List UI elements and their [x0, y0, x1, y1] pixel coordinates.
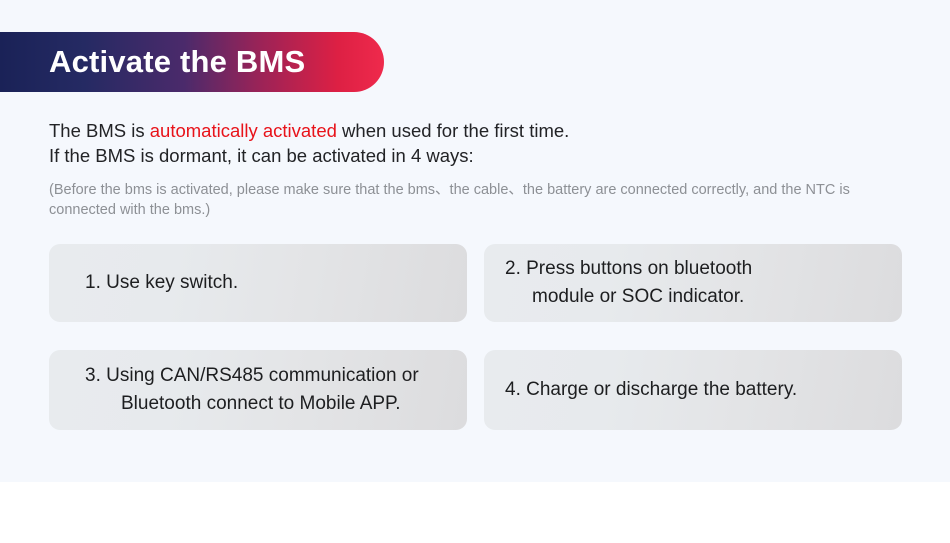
lead-paragraph: The BMS is automatically activated when … [49, 118, 909, 168]
slide-canvas: Activate the BMS The BMS is automaticall… [0, 0, 950, 482]
card-press-buttons[interactable]: 2. Press buttons on bluetoothmodule or S… [484, 244, 902, 322]
lead-line-1-before: The BMS is [49, 120, 150, 141]
card-3-text: 3. Using CAN/RS485 communication or Blue… [85, 362, 467, 418]
card-can-rs485-bluetooth[interactable]: 3. Using CAN/RS485 communication or Blue… [49, 350, 467, 430]
note-text: (Before the bms is activated, please mak… [49, 181, 894, 220]
method-cards: 1. Use key switch. 2. Press buttons on b… [49, 244, 902, 430]
card-1-text: 1. Use key switch. [49, 269, 238, 297]
card-row-one: 1. Use key switch. 2. Press buttons on b… [49, 244, 902, 322]
card-use-key-switch[interactable]: 1. Use key switch. [49, 244, 467, 322]
lead-line-1: The BMS is automatically activated when … [49, 118, 909, 143]
lead-line-1-after: when used for the first time. [337, 120, 569, 141]
page-title: Activate the BMS [49, 44, 305, 80]
card-4-text: 4. Charge or discharge the battery. [484, 376, 797, 404]
lead-highlight: automatically activated [150, 120, 337, 141]
card-row-two: 3. Using CAN/RS485 communication or Blue… [49, 350, 902, 430]
lead-line-2: If the BMS is dormant, it can be activat… [49, 143, 909, 168]
card-charge-discharge[interactable]: 4. Charge or discharge the battery. [484, 350, 902, 430]
card-2-line-2: module or SOC indicator. [505, 283, 752, 311]
title-banner: Activate the BMS [0, 32, 384, 92]
card-2-text: 2. Press buttons on bluetoothmodule or S… [484, 255, 752, 311]
card-2-line-1: 2. Press buttons on bluetooth [505, 258, 752, 279]
